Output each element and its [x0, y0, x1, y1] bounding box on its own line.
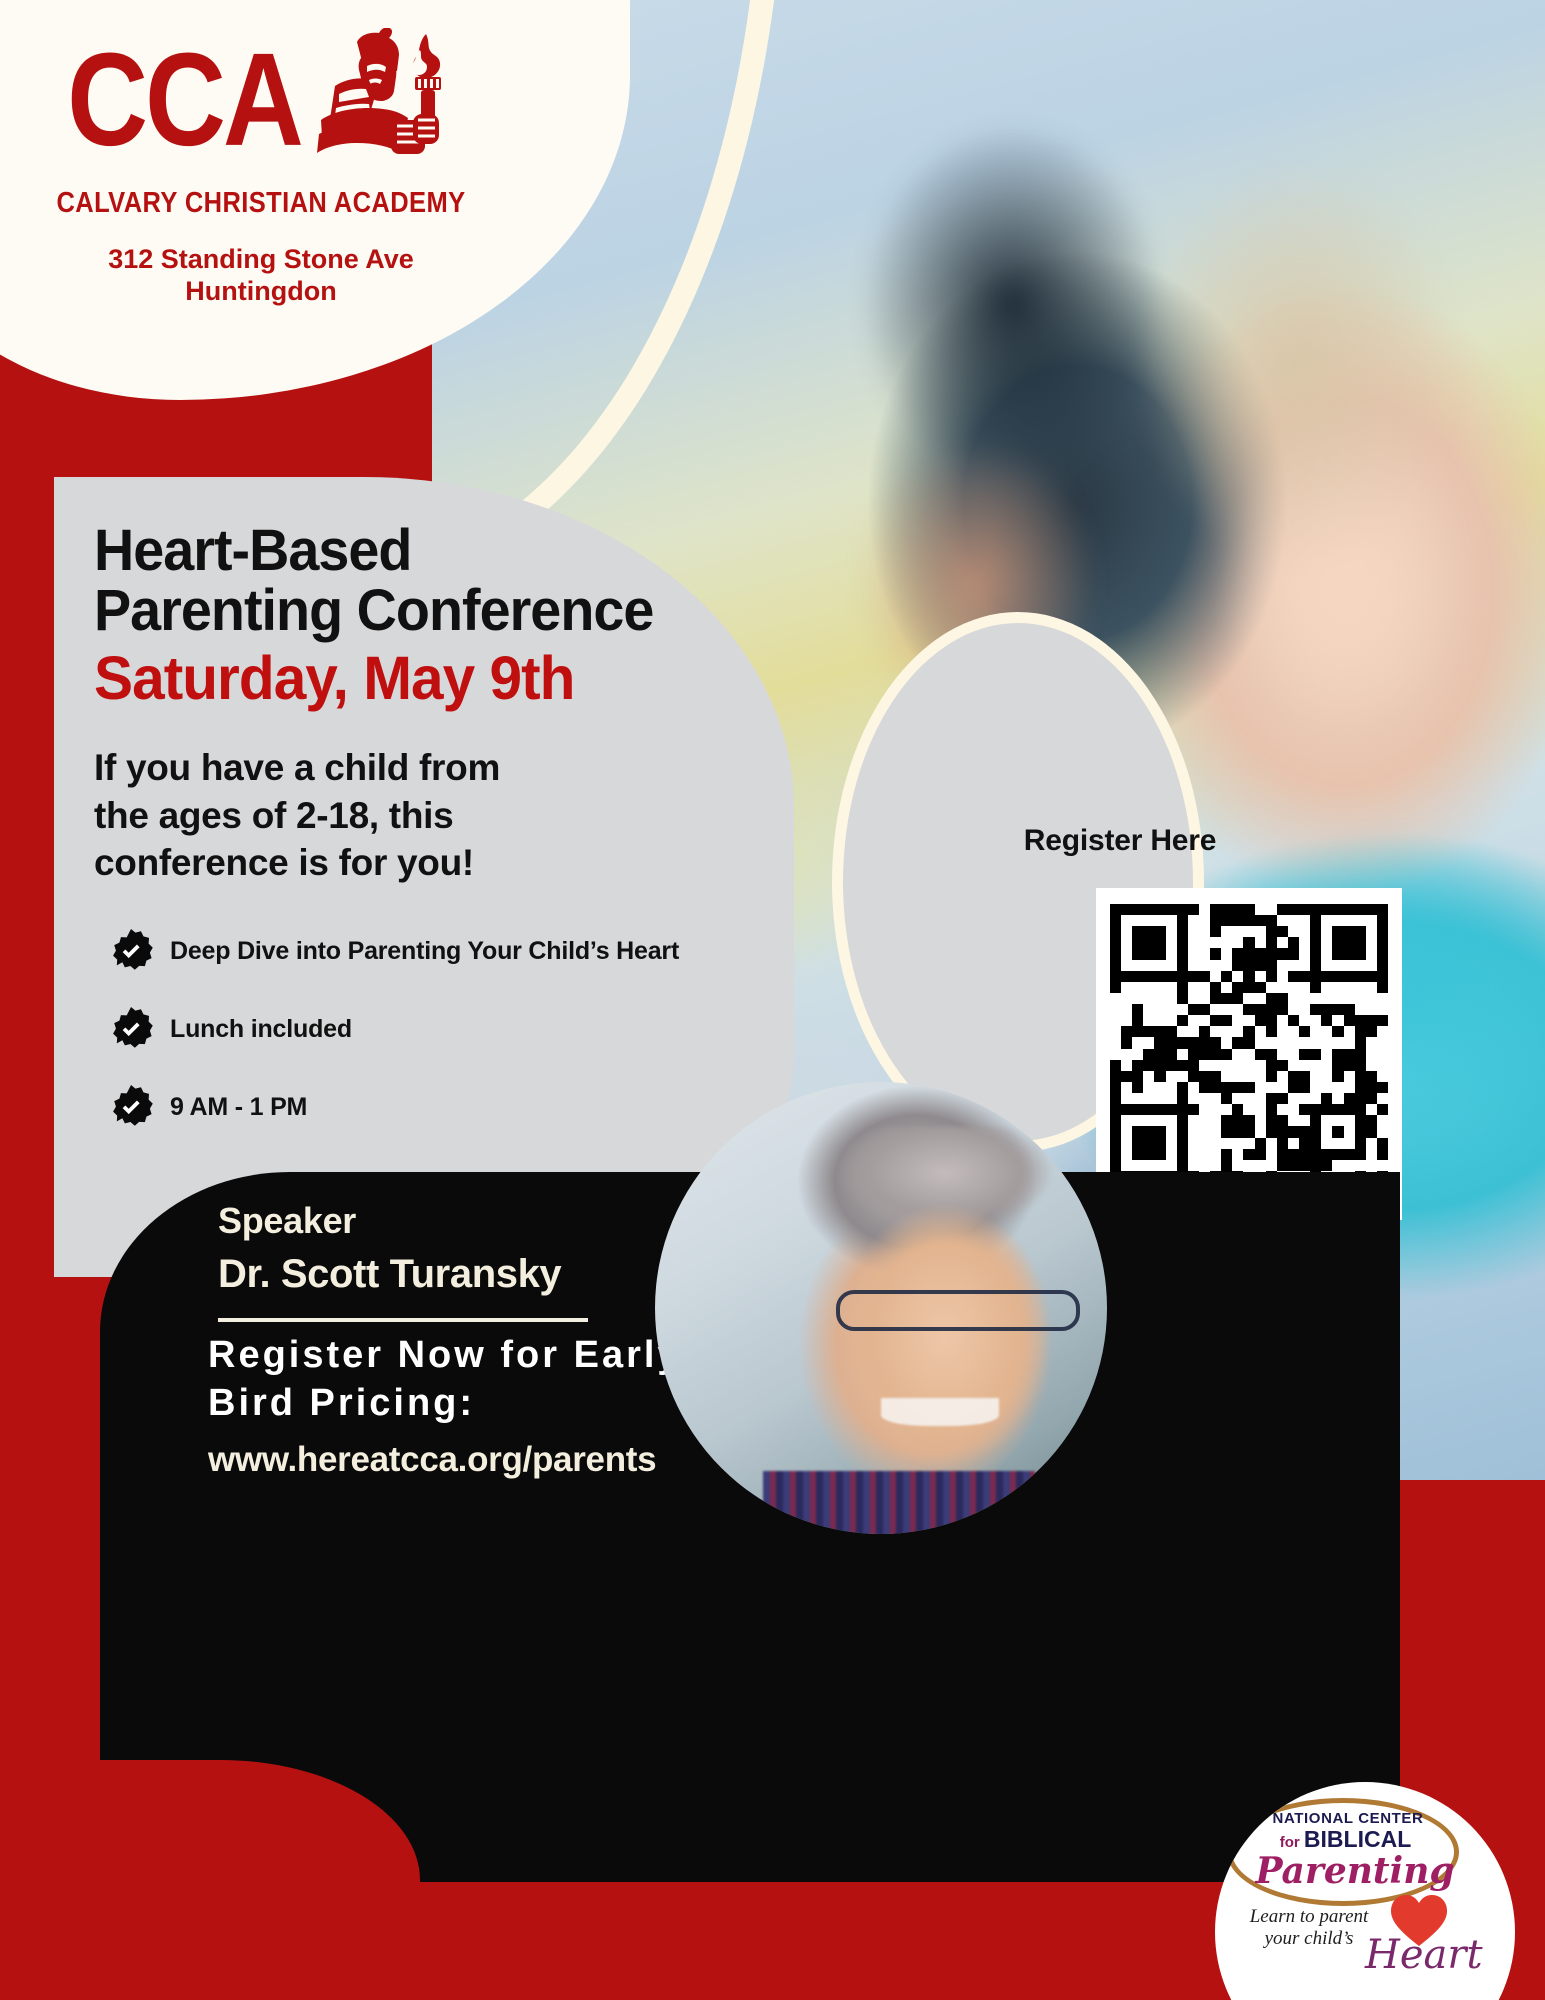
- check-seal-icon: [108, 928, 154, 974]
- flyer-poster: CCA: [0, 0, 1545, 2000]
- info-content: Heart-Based Parenting Conference Saturda…: [54, 477, 814, 1162]
- list-item: Lunch included: [108, 1006, 814, 1052]
- list-item-label: Lunch included: [170, 1015, 352, 1044]
- qr-code-icon[interactable]: [1096, 888, 1402, 1220]
- address-line-2: Huntingdon: [46, 276, 476, 308]
- ncbp-for-word: for: [1280, 1834, 1300, 1851]
- ncbp-biblical-word: BIBLICAL: [1304, 1826, 1411, 1852]
- ncbp-line-2: for BIBLICAL: [1243, 1826, 1448, 1853]
- school-name: CALVARY CHRISTIAN ACADEMY: [46, 187, 476, 219]
- check-seal-icon: [108, 1084, 154, 1130]
- ncbp-heart-word: Heart: [1365, 1932, 1483, 1978]
- speaker-role-label: Speaker: [218, 1200, 356, 1242]
- page-title-line-1: Heart-Based: [94, 521, 785, 581]
- registration-url[interactable]: www.hereatcca.org/parents: [208, 1440, 656, 1480]
- school-logo: CCA: [46, 28, 476, 308]
- speaker-headshot-photo: [655, 1082, 1107, 1534]
- list-item: 9 AM - 1 PM: [108, 1084, 814, 1130]
- headshot-smile: [881, 1398, 999, 1425]
- cca-monogram: CCA: [67, 45, 301, 156]
- spartan-torch-icon: [305, 28, 455, 173]
- subtitle-line-2: the ages of 2-18, this: [94, 792, 814, 839]
- register-here-label: Register Here: [880, 824, 1360, 858]
- cta-text: Register Now for Early Bird Pricing:: [208, 1332, 728, 1428]
- list-item-label: 9 AM - 1 PM: [170, 1093, 307, 1122]
- speaker-divider: [218, 1318, 588, 1322]
- cta-line-2: Bird Pricing:: [208, 1380, 728, 1428]
- list-item: Deep Dive into Parenting Your Child’s He…: [108, 928, 814, 974]
- cta-line-1: Register Now for Early: [208, 1332, 728, 1380]
- address-line-1: 312 Standing Stone Ave: [46, 244, 476, 276]
- list-item-label: Deep Dive into Parenting Your Child’s He…: [170, 937, 679, 966]
- glasses-icon: [836, 1290, 1080, 1331]
- red-corner-shape: [0, 1760, 420, 2000]
- page-title-line-2: Parenting Conference: [94, 581, 785, 641]
- feature-list: Deep Dive into Parenting Your Child’s He…: [108, 928, 814, 1130]
- check-seal-icon: [108, 1006, 154, 1052]
- partner-logo-ncbp: NATIONAL CENTER for BIBLICAL Parenting L…: [1215, 1782, 1515, 2000]
- ncbp-line-1: NATIONAL CENTER: [1253, 1810, 1443, 1827]
- subtitle-line-3: conference is for you!: [94, 839, 814, 886]
- speaker-name: Dr. Scott Turansky: [218, 1252, 561, 1297]
- headshot-plaid-shirt: [763, 1471, 1034, 1534]
- ncbp-parenting-script: Parenting: [1255, 1850, 1455, 1892]
- qr-code-grid: [1110, 904, 1388, 1182]
- ncbp-tagline-line-1: Learn to parent: [1229, 1906, 1389, 1928]
- subtitle-line-1: If you have a child from: [94, 744, 814, 791]
- event-date: Saturday, May 9th: [94, 646, 785, 711]
